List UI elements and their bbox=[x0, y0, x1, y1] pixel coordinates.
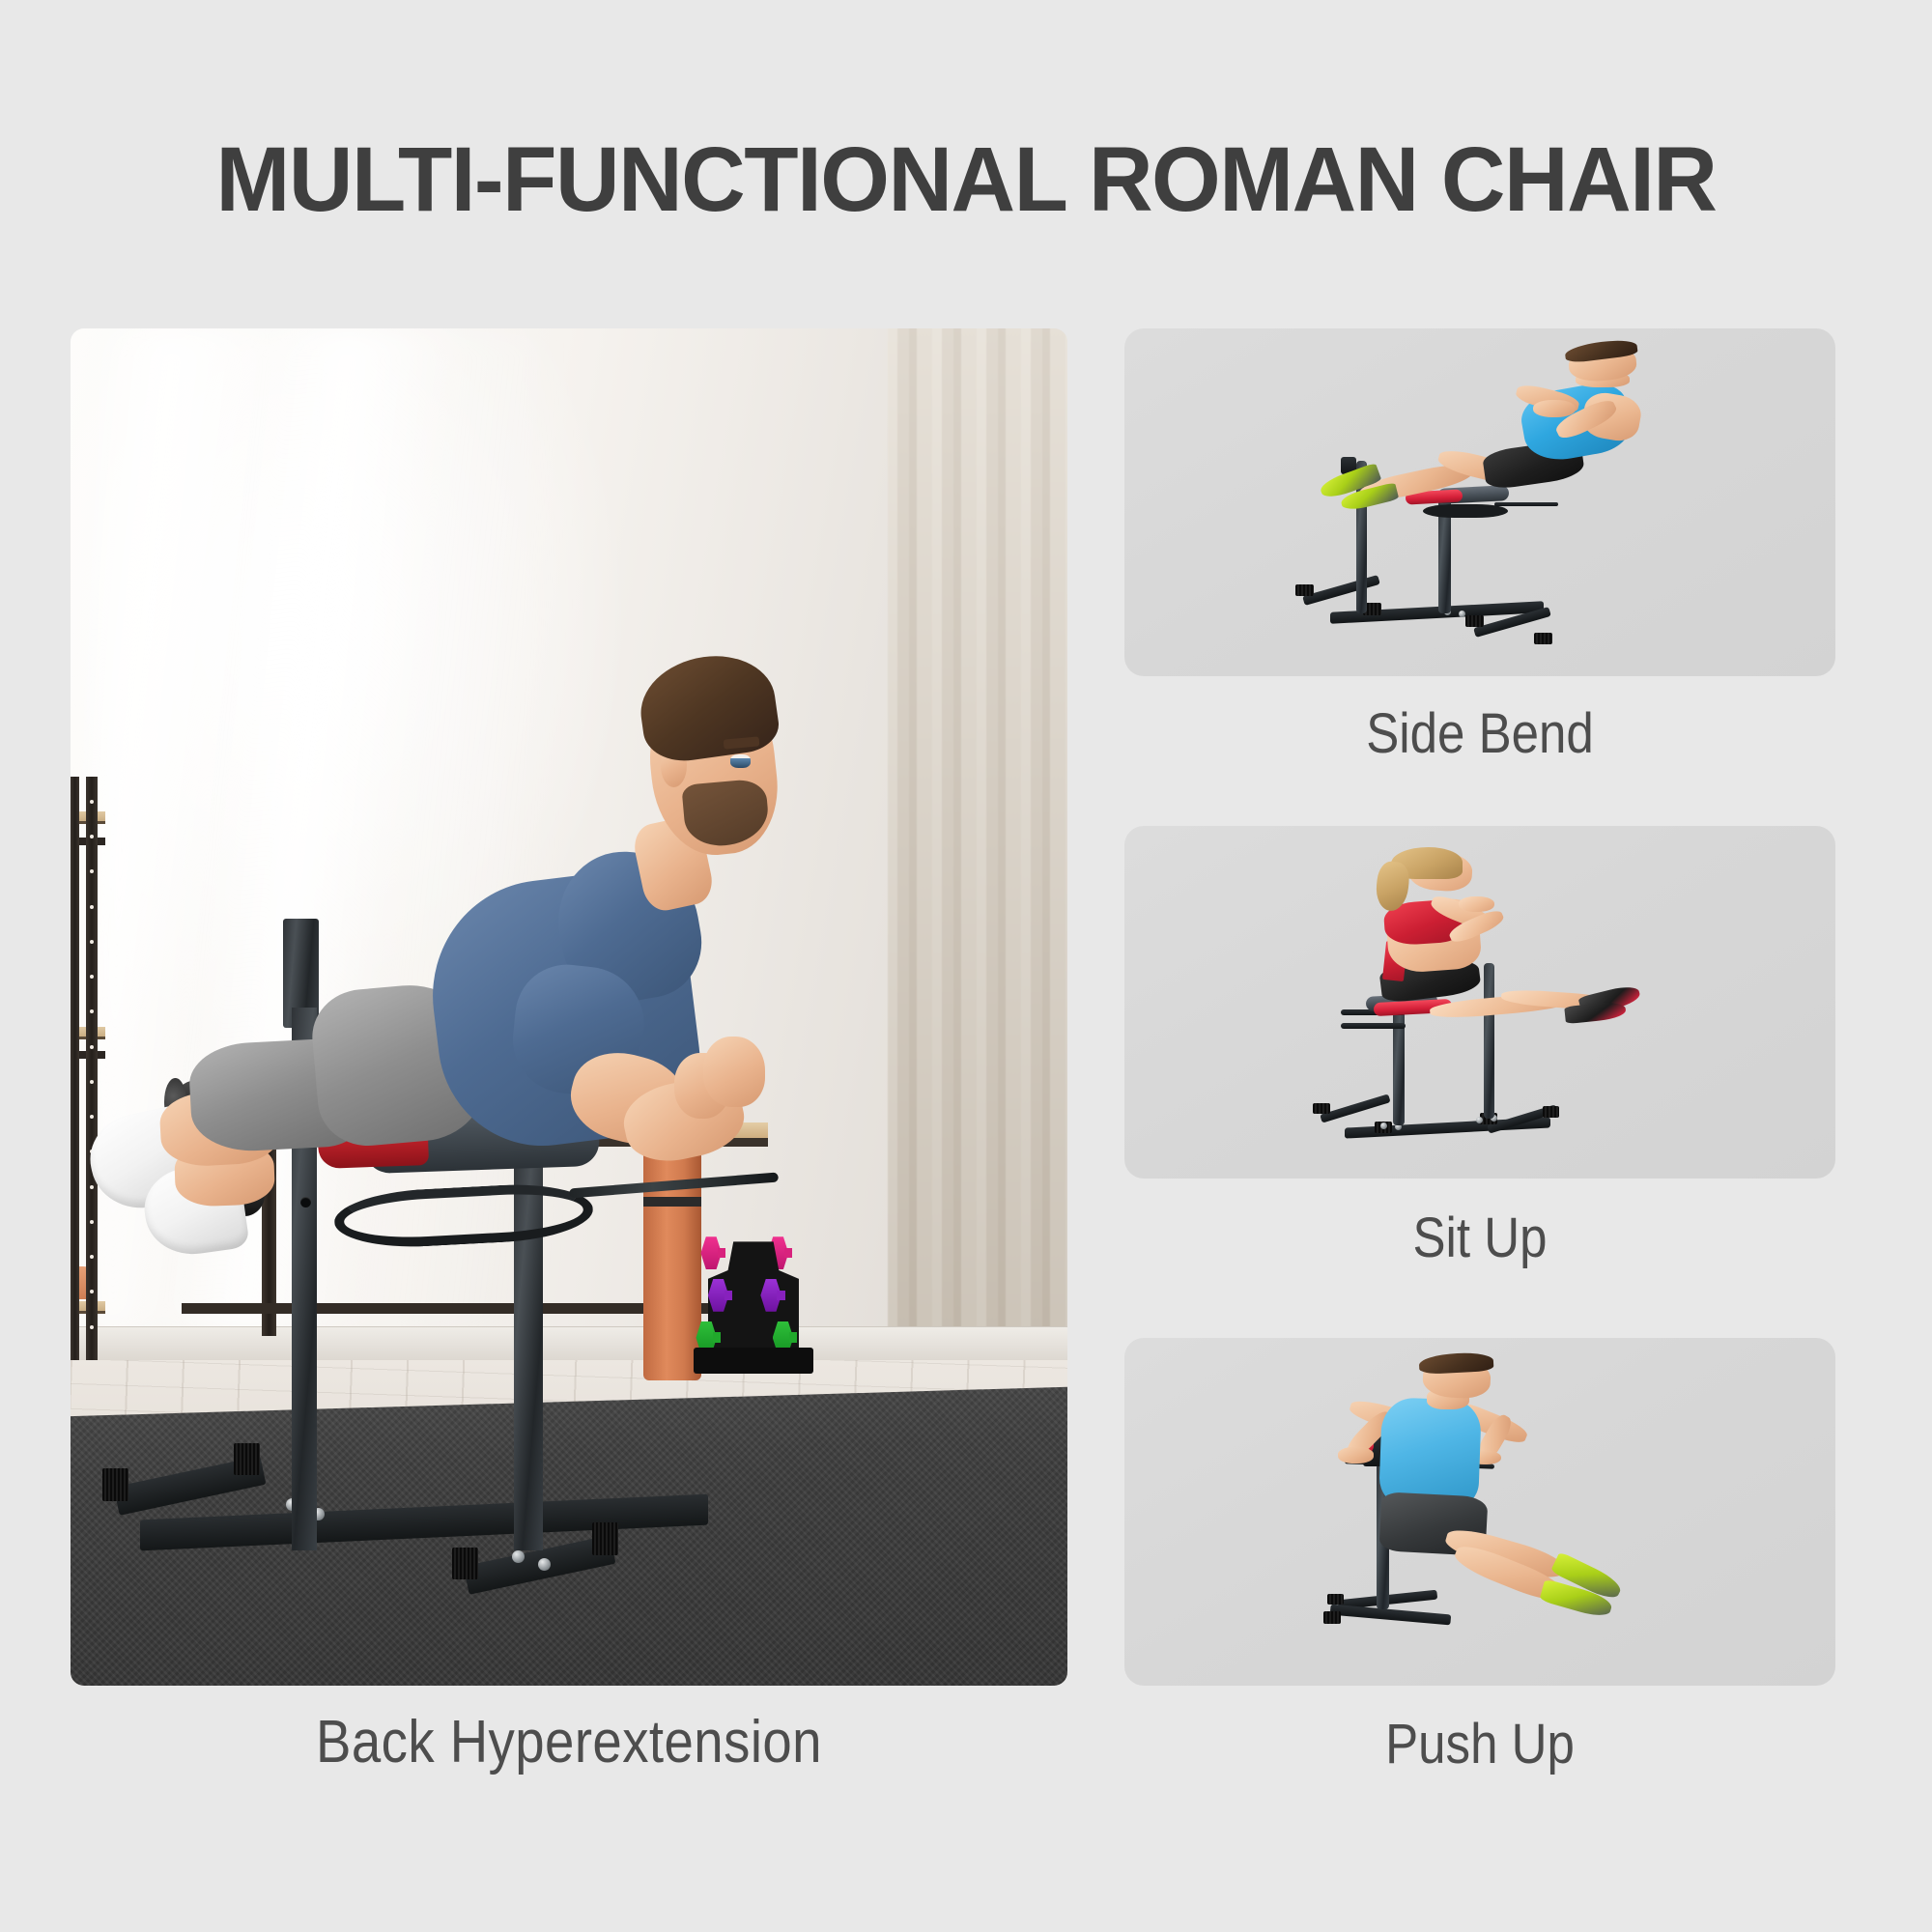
exercise-caption-push-up: Push Up bbox=[1167, 1712, 1793, 1776]
exercise-card-push-up bbox=[1124, 1338, 1835, 1686]
exercise-card-side-bend bbox=[1124, 328, 1835, 676]
hero-model bbox=[71, 328, 1067, 1686]
exercise-caption-sit-up: Sit Up bbox=[1167, 1206, 1793, 1270]
sit-up-scene bbox=[1124, 826, 1835, 1179]
exercise-card-sit-up bbox=[1124, 826, 1835, 1179]
hero-caption: Back Hyperextension bbox=[130, 1708, 1008, 1776]
push-up-scene bbox=[1124, 1338, 1835, 1686]
exercise-caption-side-bend: Side Bend bbox=[1167, 701, 1793, 766]
page-title: MULTI-FUNCTIONAL ROMAN CHAIR bbox=[29, 128, 1903, 233]
hero-scene bbox=[71, 328, 1067, 1686]
hair bbox=[635, 648, 782, 766]
eye bbox=[730, 754, 751, 768]
fist bbox=[703, 1037, 765, 1107]
hero-image-back-hyperextension bbox=[71, 328, 1067, 1686]
side-bend-scene bbox=[1124, 328, 1835, 676]
